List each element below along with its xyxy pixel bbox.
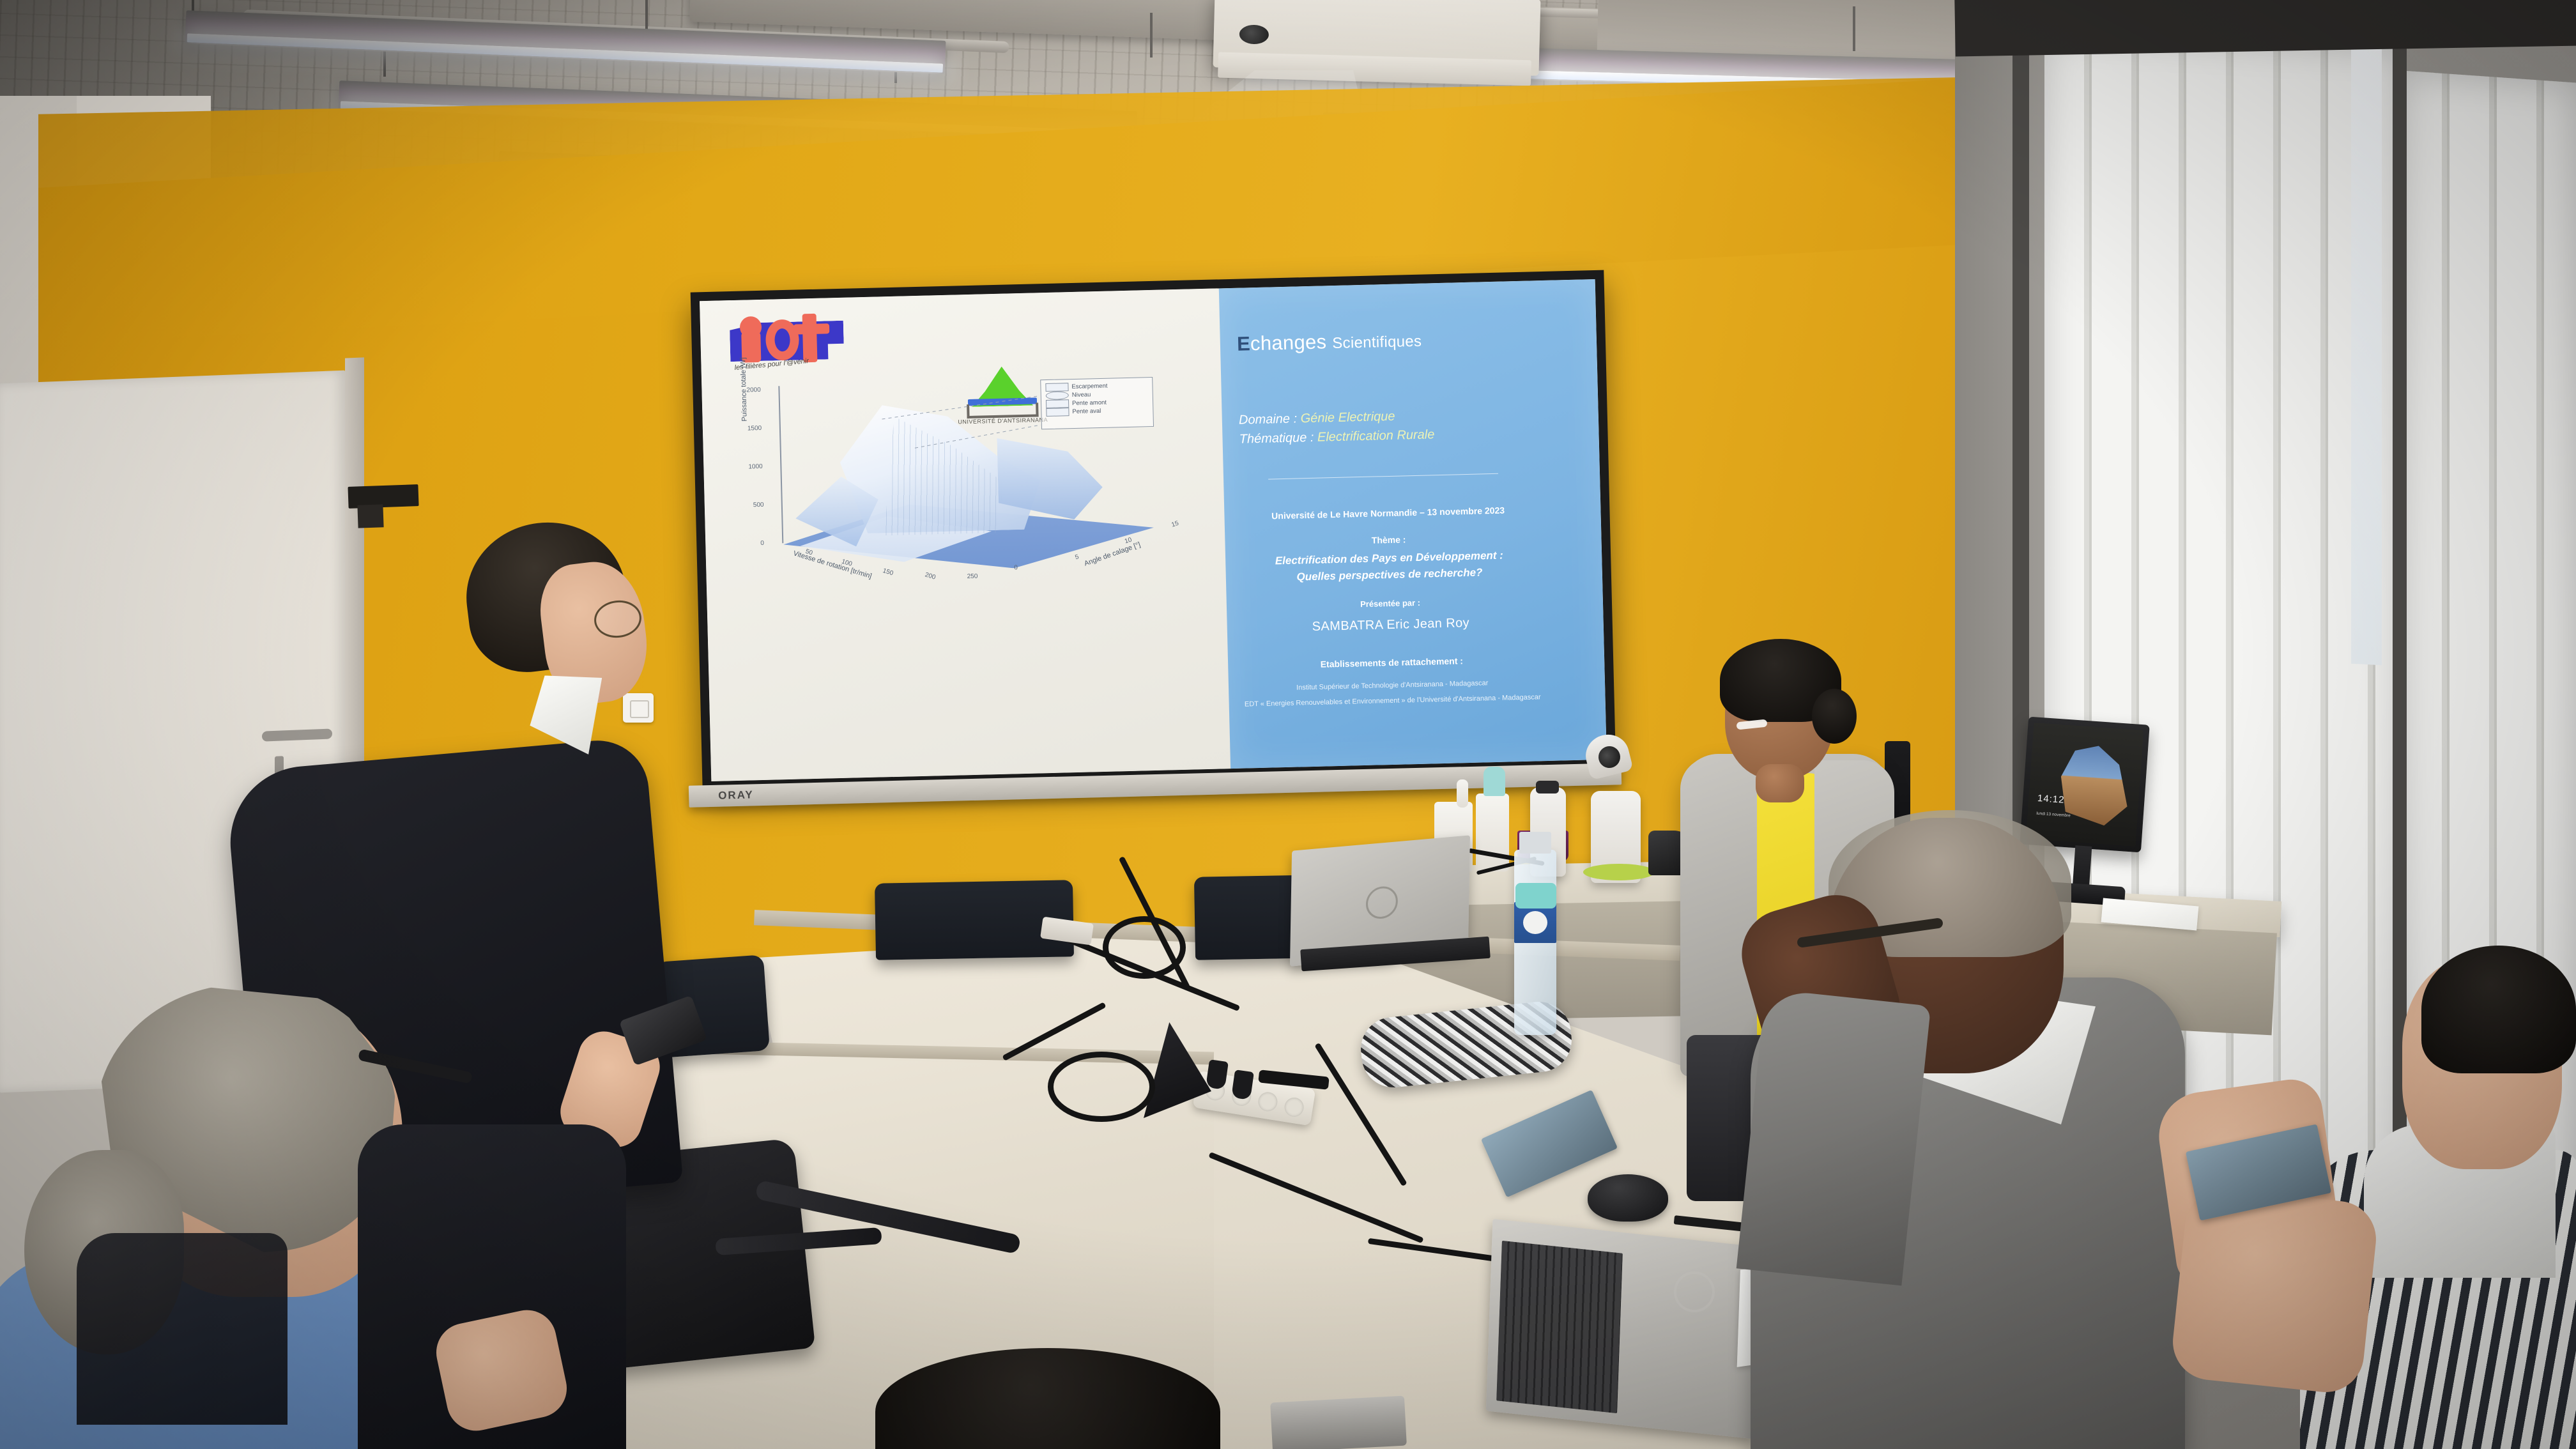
window-mullion-far xyxy=(2393,38,2407,1188)
presenter-lapel-left xyxy=(1680,757,1757,1077)
slide-left-panel: les filières pour l'@venir UNIVERSITÉ D'… xyxy=(700,288,1230,781)
slide-thematique-label: Thématique : xyxy=(1239,431,1314,447)
slide-affiliation-label: Etablissements de rattachement : xyxy=(1245,654,1538,671)
legend-swatch xyxy=(1045,383,1068,392)
kettle-tray xyxy=(1583,864,1655,880)
projection-screen: les filières pour l'@venir UNIVERSITÉ D'… xyxy=(691,270,1616,791)
surface-chart: Puissance totale [W] 0 500 1000 1500 200… xyxy=(721,372,1211,581)
grey-sweater-attendee-arm xyxy=(1736,989,1931,1286)
meeting-room-photo: les filières pour l'@venir UNIVERSITÉ D'… xyxy=(0,0,2576,1449)
bottle-cap[interactable] xyxy=(1519,832,1551,854)
slide-thematique: Thématique : Electrification Rurale xyxy=(1239,427,1434,447)
sanitizer-pump-bottle[interactable] xyxy=(1476,793,1509,871)
slide-date-line: Université de Le Havre Normandie – 13 no… xyxy=(1241,504,1535,521)
chart-x-tick-5: 250 xyxy=(967,573,978,580)
legend-swatch xyxy=(1046,399,1069,408)
presenter-neck xyxy=(1756,764,1804,802)
chart-z-tick-0: 0 xyxy=(760,540,764,547)
slide-domaine: Domaine : Génie Electrique xyxy=(1239,410,1395,428)
slide-presented-by-label: Présentée par : xyxy=(1243,595,1537,611)
chart-y-tick-3: 15 xyxy=(1170,520,1179,529)
legend-swatch xyxy=(1046,408,1069,417)
slide-domaine-value: Génie Electrique xyxy=(1300,410,1395,426)
bottle-neck xyxy=(1457,779,1468,808)
slide-title: Echanges Scientifiques xyxy=(1237,328,1422,356)
legend-label: Pente amont xyxy=(1072,399,1107,407)
monitor-clock: 14:12 xyxy=(2037,793,2065,806)
computer-mouse[interactable] xyxy=(1588,1174,1668,1222)
monitor-date: lundi 13 novembre xyxy=(2036,811,2071,818)
oray-brand-label: ORAY xyxy=(718,788,754,802)
slide-presenter-name: SAMBATRA Eric Jean Roy xyxy=(1244,614,1538,636)
legend-label: Escarpement xyxy=(1071,383,1107,390)
slide-domaine-label: Domaine : xyxy=(1239,411,1298,427)
hp-logo xyxy=(1366,885,1399,920)
thermos-cap xyxy=(1536,781,1559,793)
window-glass-strip xyxy=(2351,25,2382,666)
slide-title-rest: changes xyxy=(1250,330,1327,355)
laptop-keyboard[interactable] xyxy=(1496,1241,1623,1413)
chart-y-tick-1: 5 xyxy=(1074,553,1080,561)
chart-z-tick-1: 500 xyxy=(753,502,764,509)
slide-thematique-value: Electrification Rurale xyxy=(1317,427,1435,444)
chart-x-tick-4: 200 xyxy=(924,571,936,581)
chart-z-tick-3: 1500 xyxy=(747,425,762,433)
desk-monitor[interactable]: 14:12 lundi 13 novembre xyxy=(2020,717,2149,853)
pump-head[interactable] xyxy=(1483,767,1505,796)
legend-leader-line xyxy=(882,395,1039,420)
chart-x-tick-3: 150 xyxy=(882,567,894,577)
chart-legend: Escarpement Niveau Pente amont Pent xyxy=(1040,377,1154,429)
striped-attendee-hair xyxy=(2421,946,2576,1073)
cable-loop xyxy=(1048,1052,1155,1122)
chart-y-tick-0: 0 xyxy=(1014,564,1018,571)
wall-bracket-arm xyxy=(357,504,383,528)
ceiling-projector xyxy=(1213,0,1541,76)
cable-loop xyxy=(1103,916,1186,979)
light-switch[interactable] xyxy=(623,693,654,723)
legend-label: Pente aval xyxy=(1072,408,1101,415)
chart-z-axis xyxy=(778,386,783,543)
blue-shirt-attendee-chairback xyxy=(77,1233,287,1425)
teal-bottle-ring xyxy=(1515,883,1556,908)
slide-title-sub: Scientifiques xyxy=(1332,333,1422,352)
bottom-laptop[interactable] xyxy=(1270,1396,1407,1449)
legend-label: Niveau xyxy=(1072,391,1091,399)
chart-z-tick-4: 2000 xyxy=(746,387,761,394)
slide-title-initial: E xyxy=(1237,332,1251,355)
slide-right-panel: Echanges Scientifiques Domaine : Génie E… xyxy=(1219,279,1607,769)
chart-z-tick-2: 1000 xyxy=(748,463,763,471)
slide-divider xyxy=(1268,473,1498,480)
slide-theme-label: Thème : xyxy=(1242,531,1536,548)
legend-swatch xyxy=(1046,391,1069,400)
legend-item-pente-aval: Pente aval xyxy=(1046,406,1148,417)
presenter-hair-bun xyxy=(1812,689,1857,744)
